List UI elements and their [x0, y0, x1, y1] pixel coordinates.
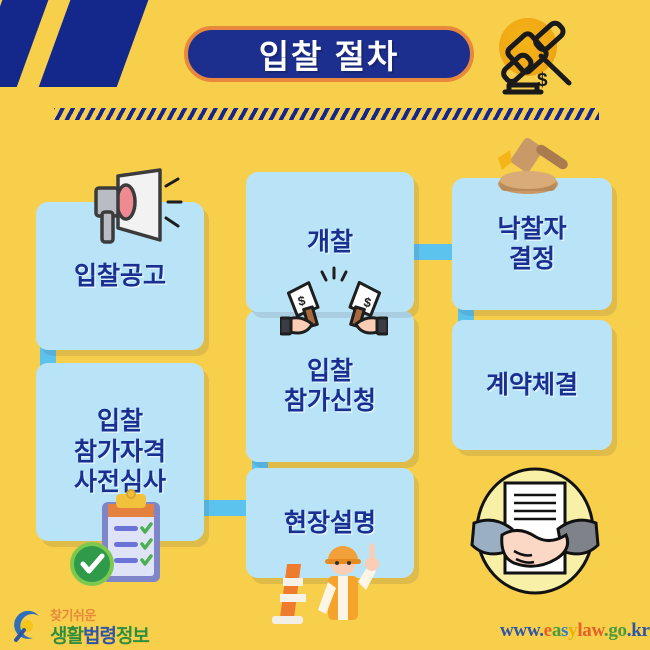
flow-node-opening-label: 개찰: [307, 227, 353, 258]
flow-node-winner[interactable]: 낙찰자 결정: [452, 178, 612, 310]
flow-node-apply[interactable]: 입찰 참가신청: [246, 310, 414, 462]
flow-node-winner-label: 낙찰자 결정: [497, 214, 566, 275]
magnifier-logo-icon: [8, 606, 48, 646]
flow-node-contract[interactable]: 계약체결: [452, 320, 612, 450]
flow-node-notice-label: 입찰공고: [74, 261, 166, 292]
url-part-law: law: [577, 620, 604, 641]
flow-node-site[interactable]: 현장설명: [246, 468, 414, 578]
flow-node-opening[interactable]: 개찰: [246, 172, 414, 312]
flow-node-notice[interactable]: 입찰공고: [36, 202, 204, 350]
brand-name: 생활법령정보: [50, 621, 149, 648]
url-part-y: y: [568, 620, 577, 641]
url-part-go: .go: [604, 620, 627, 641]
brand-name-part-3: 정보: [116, 626, 149, 647]
url-part-a: a: [552, 620, 561, 641]
flow-node-prequal-label: 입찰 참가자격 사전심사: [74, 406, 166, 498]
brand-logo[interactable]: 찾기쉬운 생활법령정보: [8, 604, 228, 648]
url-part-e: e: [544, 620, 552, 641]
url-part-kr: .kr: [627, 620, 650, 641]
infographic-poster: 입찰 절차 $ 입찰공고 입: [0, 0, 650, 650]
flow-node-contract-label: 계약체결: [486, 370, 578, 401]
flow-node-prequal[interactable]: 입찰 참가자격 사전심사: [36, 363, 204, 541]
brand-name-part-2: 법령: [83, 626, 116, 647]
url-part-www: www.: [500, 620, 544, 641]
flow-node-apply-label: 입찰 참가신청: [284, 356, 376, 417]
site-url[interactable]: www.easylaw.go.kr: [500, 620, 650, 642]
brand-name-part-1: 생활: [50, 626, 83, 647]
flow-node-site-label: 현장설명: [284, 508, 376, 539]
flowchart: 입찰공고 입찰 참가자격 사전심사 현장설명 입찰 참가신청 개찰 낙찰자 결정…: [0, 0, 650, 650]
